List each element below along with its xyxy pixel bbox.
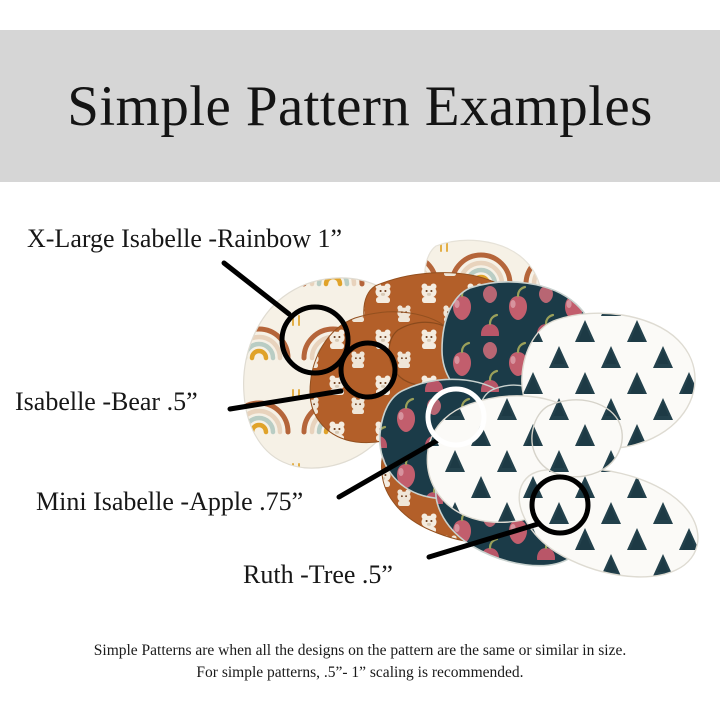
callout-label-tree: Ruth -Tree .5” xyxy=(243,560,393,590)
leader-line-rainbow xyxy=(224,263,289,314)
page-title: Simple Pattern Examples xyxy=(0,30,720,182)
callout-label-rainbow: X-Large Isabelle -Rainbow 1” xyxy=(27,224,342,254)
callout-label-bear: Isabelle -Bear .5” xyxy=(15,387,198,417)
caption-line-2: For simple patterns, .5”- 1” scaling is … xyxy=(0,662,720,684)
poster-canvas: Simple Pattern Examples X-Large Isabelle… xyxy=(0,0,720,720)
caption-block: Simple Patterns are when all the designs… xyxy=(0,640,720,685)
callout-label-apple: Mini Isabelle -Apple .75” xyxy=(36,487,303,517)
caption-line-1: Simple Patterns are when all the designs… xyxy=(0,640,720,662)
